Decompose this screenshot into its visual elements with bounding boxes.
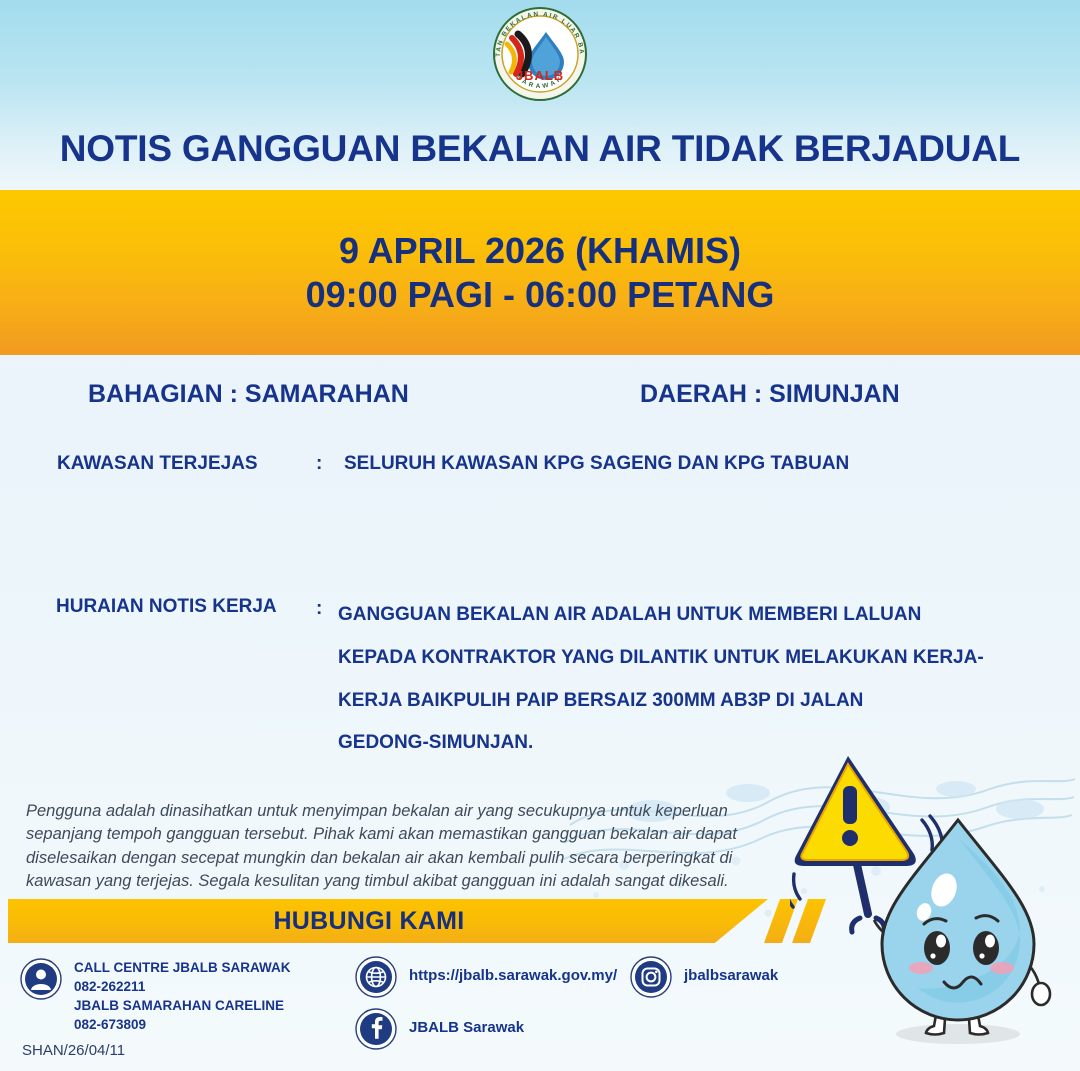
affected-area-value: SELURUH KAWASAN KPG SAGENG DAN KPG TABUA… — [344, 453, 849, 475]
contact-instagram-block[interactable]: jbalbsarawak — [630, 956, 778, 998]
contact-banner-title: HUBUNGI KAMI — [273, 907, 464, 936]
contact-facebook-block[interactable]: JBALB Sarawak — [355, 1008, 524, 1050]
date-time-band: 9 APRIL 2026 (KHAMIS) 09:00 PAGI - 06:00… — [0, 190, 1080, 355]
website-url[interactable]: https://jbalb.sarawak.gov.my/ — [409, 956, 617, 984]
reference-code: SHAN/26/04/11 — [22, 1042, 125, 1059]
jbalb-logo: JABATAN BEKALAN AIR LUAR BANDAR SARAWAK … — [488, 4, 592, 104]
facebook-icon[interactable] — [355, 1008, 397, 1050]
careline-name: JBALB SAMARAHAN CARELINE — [74, 996, 291, 1015]
poster-header: JABATAN BEKALAN AIR LUAR BANDAR SARAWAK … — [0, 0, 1080, 190]
facebook-handle[interactable]: JBALB Sarawak — [409, 1008, 524, 1036]
call-centre-phone[interactable]: 082-262211 — [74, 977, 291, 996]
work-description-label: HURAIAN NOTIS KERJA — [56, 596, 277, 618]
water-disruption-notice-poster: JABATAN BEKALAN AIR LUAR BANDAR SARAWAK … — [0, 0, 1080, 1071]
disruption-time: 09:00 PAGI - 06:00 PETANG — [306, 273, 775, 317]
jbalb-logo-icon: JABATAN BEKALAN AIR LUAR BANDAR SARAWAK … — [488, 4, 592, 104]
instagram-icon[interactable] — [630, 956, 672, 998]
svg-text:JBALB: JBALB — [516, 68, 564, 83]
contact-website-block[interactable]: https://jbalb.sarawak.gov.my/ — [355, 956, 617, 998]
person-icon — [20, 958, 62, 1000]
region-row: BAHAGIAN : SAMARAHAN DAERAH : SIMUNJAN — [0, 380, 1080, 420]
division-label: BAHAGIAN : SAMARAHAN — [88, 380, 409, 409]
district-label: DAERAH : SIMUNJAN — [640, 380, 900, 409]
contact-phone-text: CALL CENTRE JBALB SARAWAK 082-262211 JBA… — [74, 958, 291, 1035]
warning-triangle-icon — [795, 756, 916, 866]
work-description-colon: : — [316, 598, 322, 620]
water-droplet-mascot — [790, 742, 1080, 1062]
page-title: NOTIS GANGGUAN BEKALAN AIR TIDAK BERJADU… — [0, 128, 1080, 170]
work-description-line: GANGGUAN BEKALAN AIR ADALAH UNTUK MEMBER… — [338, 594, 1038, 637]
affected-area-colon: : — [316, 453, 322, 475]
disruption-date: 9 APRIL 2026 (KHAMIS) — [339, 229, 741, 273]
affected-area-label: KAWASAN TERJEJAS — [57, 453, 258, 475]
contact-banner: HUBUNGI KAMI — [8, 899, 768, 943]
globe-icon[interactable] — [355, 956, 397, 998]
work-description-value: GANGGUAN BEKALAN AIR ADALAH UNTUK MEMBER… — [338, 594, 1038, 765]
contact-phone-block: CALL CENTRE JBALB SARAWAK 082-262211 JBA… — [20, 958, 291, 1035]
advisory-paragraph: Pengguna adalah dinasihatkan untuk menyi… — [26, 800, 786, 894]
work-description-line: KEPADA KONTRAKTOR YANG DILANTIK UNTUK ME… — [338, 637, 1038, 680]
careline-phone[interactable]: 082-673809 — [74, 1015, 291, 1034]
instagram-handle[interactable]: jbalbsarawak — [684, 956, 778, 984]
work-description-line: KERJA BAIKPULIH PAIP BERSAIZ 300MM AB3P … — [338, 680, 1038, 723]
call-centre-name: CALL CENTRE JBALB SARAWAK — [74, 958, 291, 977]
